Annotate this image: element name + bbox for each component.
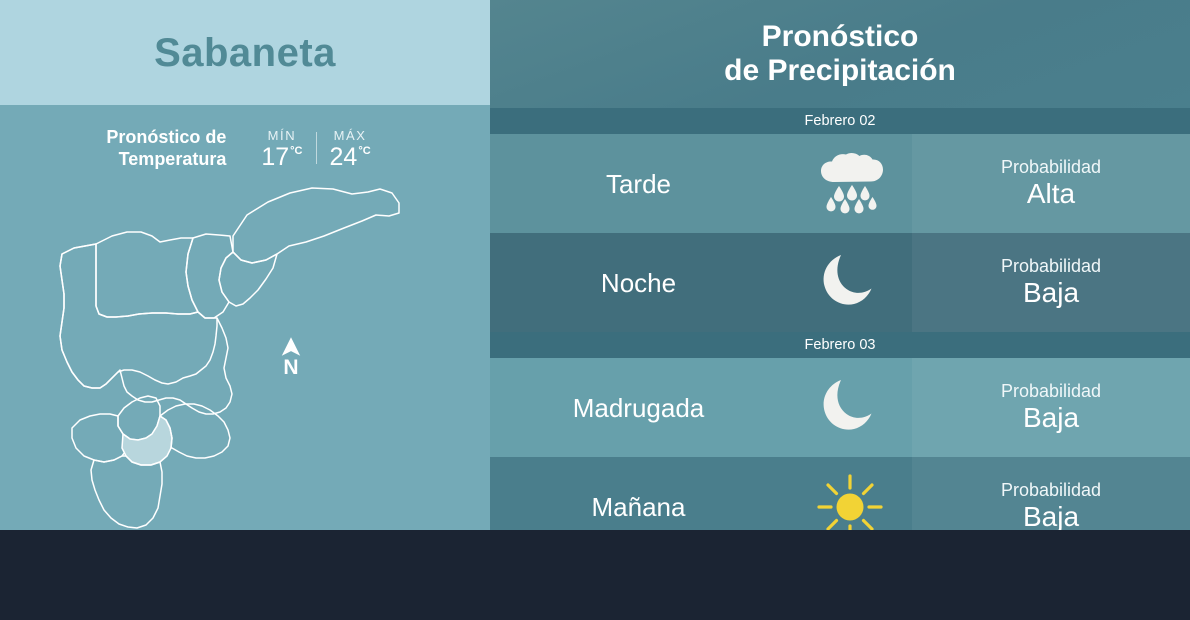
footer: Con el apoyo de: Un proyecto de: SIATA <box>0 530 1190 620</box>
period-cell: Tarde <box>490 134 787 233</box>
compass-label: N <box>276 357 306 378</box>
temperature-min-unit: °C <box>290 146 302 158</box>
period-label: Madrugada <box>573 395 705 421</box>
date-band-feb-02: Febrero 02 <box>490 108 1190 134</box>
date-label: Febrero 03 <box>805 338 876 353</box>
forecast-header: Pronóstico de Precipitación <box>490 0 1190 108</box>
city-band: Sabaneta <box>0 0 490 105</box>
moon-icon <box>819 252 881 314</box>
probability-value: Baja <box>1023 277 1079 309</box>
temperature-min-label: MÍN <box>268 128 297 144</box>
date-band-feb-03: Febrero 03 <box>490 332 1190 358</box>
temperature-max-value-group: 24°C <box>330 144 371 170</box>
forecast-title-line2: de Precipitación <box>724 54 956 88</box>
probability-label: Probabilidad <box>1001 480 1101 501</box>
forecast-row-noche[interactable]: Noche Probabilidad Baja <box>490 233 1190 332</box>
compass: N <box>276 335 306 378</box>
temperature-min: MÍN 17°C <box>248 128 315 171</box>
weather-icon-cell <box>787 233 912 332</box>
probability-label: Probabilidad <box>1001 157 1101 178</box>
temperature-max-unit: °C <box>358 146 370 158</box>
probability-value: Baja <box>1023 501 1079 533</box>
temperature-max-label: MÁX <box>334 128 367 144</box>
period-label: Tarde <box>606 171 671 197</box>
temperature-min-value: 17 <box>261 144 289 170</box>
probability-value: Alta <box>1027 178 1075 210</box>
probability-value: Baja <box>1023 402 1079 434</box>
left-panel: Sabaneta Pronóstico de Temperatura MÍN 1… <box>0 0 490 530</box>
aburra-valley-map: N <box>0 180 490 530</box>
forecast-row-madrugada[interactable]: Madrugada Probabilidad Baja <box>490 358 1190 457</box>
period-label: Noche <box>601 270 676 296</box>
forecast-rows: Febrero 02 Tarde <box>490 108 1190 556</box>
forecast-row-tarde[interactable]: Tarde <box>490 134 1190 233</box>
north-arrow-icon <box>276 335 306 358</box>
temperature-title-line2: Temperatura <box>106 149 226 171</box>
temperature-title-line1: Pronóstico de <box>106 127 226 149</box>
rain-cloud-icon <box>814 152 886 216</box>
city-name: Sabaneta <box>154 33 336 73</box>
probability-label: Probabilidad <box>1001 381 1101 402</box>
temperature-min-value-group: 17°C <box>261 144 302 170</box>
forecast-title-line1: Pronóstico <box>762 20 919 54</box>
temperature-block: Pronóstico de Temperatura MÍN 17°C MÁX 2… <box>0 118 490 180</box>
probability-cell: Probabilidad Baja <box>912 233 1190 332</box>
forecast-panel: Pronóstico de Precipitación Febrero 02 T… <box>490 0 1190 530</box>
weather-infographic: Sabaneta Pronóstico de Temperatura MÍN 1… <box>0 0 1190 620</box>
probability-cell: Probabilidad Baja <box>912 358 1190 457</box>
probability-cell: Probabilidad Alta <box>912 134 1190 233</box>
period-cell: Madrugada <box>490 358 787 457</box>
period-label: Mañana <box>592 494 686 520</box>
moon-icon <box>819 377 881 439</box>
weather-icon-cell <box>787 358 912 457</box>
temperature-values: MÍN 17°C MÁX 24°C <box>248 128 383 171</box>
temperature-max-value: 24 <box>330 144 358 170</box>
date-label: Febrero 02 <box>805 114 876 129</box>
temperature-title: Pronóstico de Temperatura <box>106 127 226 171</box>
probability-label: Probabilidad <box>1001 256 1101 277</box>
weather-icon-cell <box>787 134 912 233</box>
period-cell: Noche <box>490 233 787 332</box>
temperature-max: MÁX 24°C <box>317 128 384 171</box>
